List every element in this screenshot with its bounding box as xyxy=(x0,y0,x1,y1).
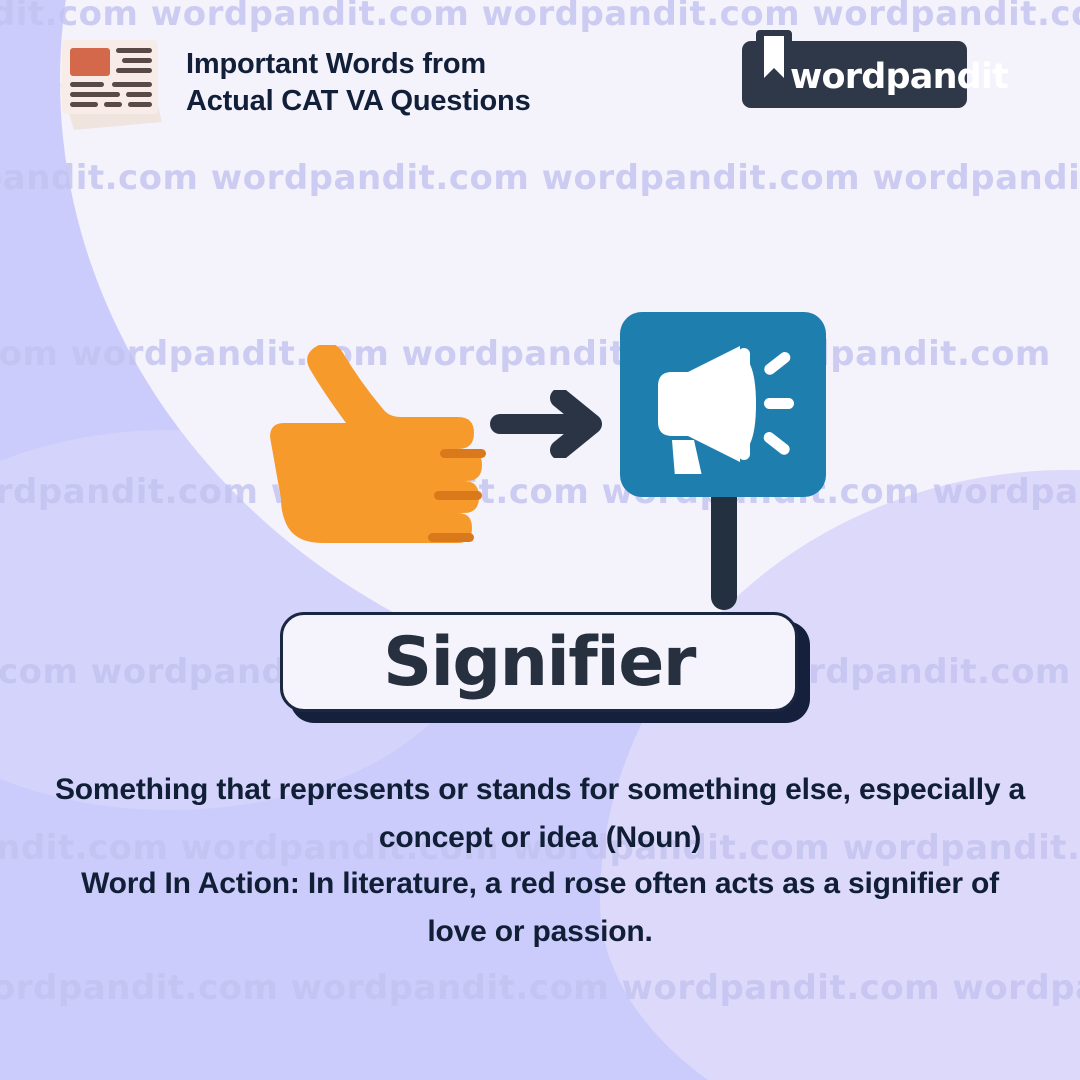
right-arrow-icon xyxy=(488,390,608,458)
megaphone-sign-icon xyxy=(620,312,826,497)
page-title-line1: Important Words from xyxy=(186,46,531,83)
illustration xyxy=(0,290,1080,630)
page-title: Important Words from Actual CAT VA Quest… xyxy=(186,46,531,120)
wordpandit-logo[interactable]: wordpandit xyxy=(742,41,967,108)
header: Important Words from Actual CAT VA Quest… xyxy=(0,0,1080,140)
word-term: Signifier xyxy=(383,623,695,702)
logo-text: wordpandit xyxy=(790,57,1008,97)
bookmark-icon xyxy=(756,30,792,86)
megaphone-icon xyxy=(644,334,802,474)
word-card: Signifier xyxy=(280,612,800,714)
newspaper-icon xyxy=(44,32,172,132)
sign-post xyxy=(711,485,737,610)
poster: wordpandit.com wordpandit.com wordpandit… xyxy=(0,0,1080,1080)
word-card-body: Signifier xyxy=(280,612,798,712)
pointing-hand-icon xyxy=(262,345,497,560)
page-title-line2: Actual CAT VA Questions xyxy=(186,83,531,120)
definition-text: Something that represents or stands for … xyxy=(40,766,1040,862)
usage-text: Word In Action: In literature, a red ros… xyxy=(55,860,1025,956)
